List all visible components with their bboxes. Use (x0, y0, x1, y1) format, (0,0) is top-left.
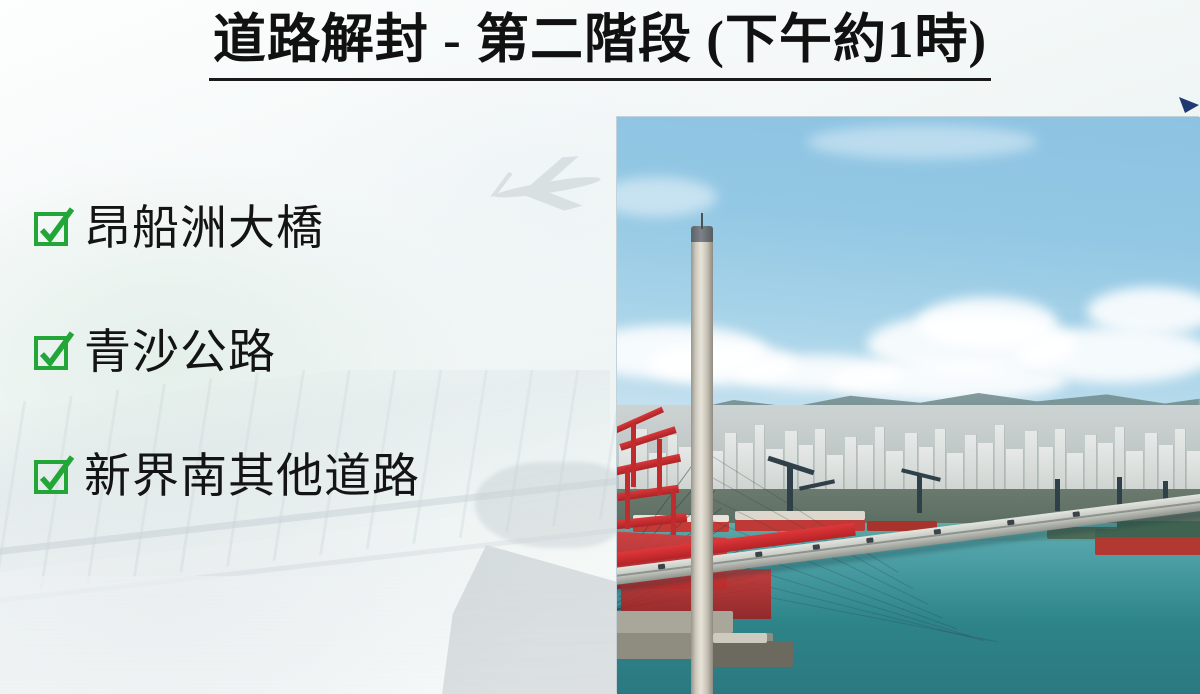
list-item-label: 昂船洲大橋 (84, 200, 324, 258)
vehicle (1072, 511, 1080, 517)
list-item-label: 新界南其他道路 (84, 448, 420, 506)
vehicle (813, 544, 821, 550)
vehicle (866, 537, 874, 543)
barge-deckhouse (713, 633, 767, 643)
checklist: 昂船洲大橋 青沙公路 新界南其他道路 (34, 196, 594, 510)
barge (713, 641, 793, 667)
vehicle (934, 529, 942, 535)
list-item-label: 青沙公路 (84, 324, 276, 382)
slide-canvas: 道路解封 - 第二階段 (下午約1時) 昂船洲大橋 青沙公路 (0, 0, 1200, 694)
terminal-dark-shape (440, 545, 630, 694)
bridge-pylon (691, 234, 713, 694)
pylon-mast (701, 213, 703, 229)
check-mark-icon (33, 206, 75, 250)
list-item[interactable]: 昂船洲大橋 (34, 196, 594, 262)
list-item[interactable]: 新界南其他道路 (34, 444, 594, 510)
page-title: 道路解封 - 第二階段 (下午約1時) (209, 8, 991, 81)
chevron-marker-icon (1178, 96, 1200, 114)
checked-checkbox-icon[interactable] (34, 334, 72, 372)
checked-checkbox-icon[interactable] (34, 210, 72, 248)
stonecutters-bridge-photo (617, 117, 1200, 694)
cloud (807, 125, 1037, 159)
barge (1095, 535, 1200, 555)
check-mark-icon (33, 454, 75, 498)
check-mark-icon (33, 330, 75, 374)
vehicle (1007, 520, 1015, 526)
vehicle (755, 551, 763, 557)
title-container: 道路解封 - 第二階段 (下午約1時) (0, 8, 1200, 81)
quay-structure (617, 611, 733, 633)
vehicle (658, 564, 666, 570)
list-item[interactable]: 青沙公路 (34, 320, 594, 386)
checked-checkbox-icon[interactable] (34, 458, 72, 496)
barge-deckhouse (1095, 529, 1200, 537)
